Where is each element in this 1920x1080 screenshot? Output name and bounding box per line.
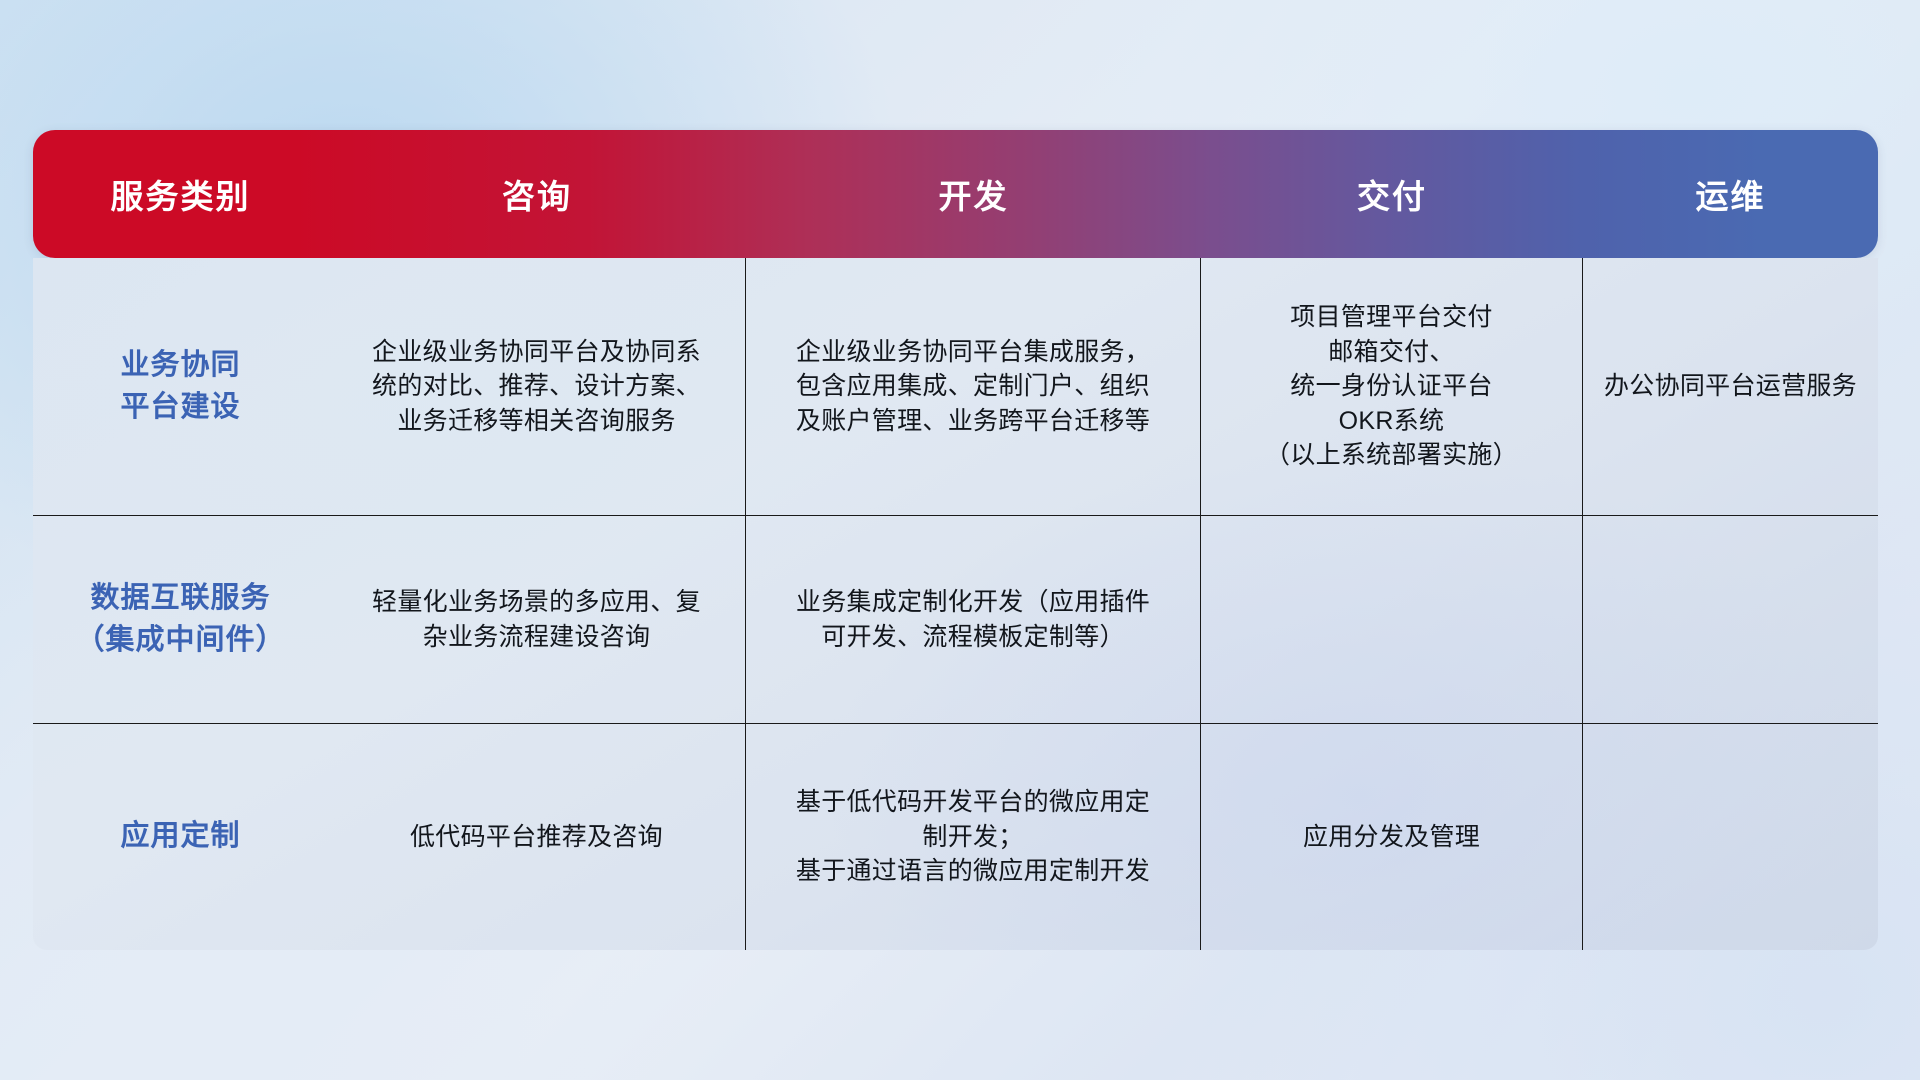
table-header-row: 服务类别 咨询 开发 交付 运维: [33, 130, 1878, 258]
cell-consulting: 企业级业务协同平台及协同系 统的对比、推荐、设计方案、 业务迁移等相关咨询服务: [328, 258, 746, 516]
row-category-label: 应用定制: [120, 816, 240, 857]
service-matrix-table: 服务类别 咨询 开发 交付 运维 业务协同 平台建设 企业级业务协同平台及协同系…: [33, 130, 1878, 950]
table-row: 业务协同 平台建设 企业级业务协同平台及协同系 统的对比、推荐、设计方案、 业务…: [33, 258, 1878, 516]
cell-text: 基于低代码开发平台的微应用定 制开发； 基于通过语言的微应用定制开发: [796, 785, 1150, 889]
cell-development: 企业级业务协同平台集成服务， 包含应用集成、定制门户、组织 及账户管理、业务跨平…: [746, 258, 1201, 516]
cell-text: 轻量化业务场景的多应用、复 杂业务流程建设咨询: [372, 585, 701, 654]
cell-consulting: 低代码平台推荐及咨询: [328, 724, 746, 950]
cell-development: 基于低代码开发平台的微应用定 制开发； 基于通过语言的微应用定制开发: [746, 724, 1201, 950]
table-header-cell-operations: 运维: [1583, 170, 1878, 218]
cell-text: 低代码平台推荐及咨询: [410, 820, 663, 855]
cell-text: 业务集成定制化开发（应用插件 可开发、流程模板定制等）: [796, 585, 1150, 654]
cell-operations: 办公协同平台运营服务: [1583, 258, 1878, 516]
cell-text: 企业级业务协同平台及协同系 统的对比、推荐、设计方案、 业务迁移等相关咨询服务: [372, 335, 701, 439]
row-category-cell: 应用定制: [33, 724, 328, 950]
cell-delivery: 应用分发及管理: [1201, 724, 1583, 950]
row-category-label: 数据互联服务 （集成中间件）: [75, 578, 285, 660]
table-row: 数据互联服务 （集成中间件） 轻量化业务场景的多应用、复 杂业务流程建设咨询 业…: [33, 516, 1878, 724]
cell-delivery: [1201, 516, 1583, 724]
table-header-cell-delivery: 交付: [1201, 170, 1583, 218]
cell-operations: [1583, 724, 1878, 950]
table-body: 业务协同 平台建设 企业级业务协同平台及协同系 统的对比、推荐、设计方案、 业务…: [33, 258, 1878, 950]
cell-text: 应用分发及管理: [1303, 820, 1480, 855]
cell-operations: [1583, 516, 1878, 724]
cell-consulting: 轻量化业务场景的多应用、复 杂业务流程建设咨询: [328, 516, 746, 724]
cell-text: 办公协同平台运营服务: [1604, 369, 1857, 404]
table-header-cell-consulting: 咨询: [328, 170, 746, 218]
table-row: 应用定制 低代码平台推荐及咨询 基于低代码开发平台的微应用定 制开发； 基于通过…: [33, 724, 1878, 950]
cell-development: 业务集成定制化开发（应用插件 可开发、流程模板定制等）: [746, 516, 1201, 724]
cell-text: 项目管理平台交付 邮箱交付、 统一身份认证平台 OKR系统 （以上系统部署实施）: [1265, 300, 1518, 473]
row-category-cell: 数据互联服务 （集成中间件）: [33, 516, 328, 724]
table-header-cell-category: 服务类别: [33, 170, 328, 218]
row-category-cell: 业务协同 平台建设: [33, 258, 328, 516]
cell-text: 企业级业务协同平台集成服务， 包含应用集成、定制门户、组织 及账户管理、业务跨平…: [796, 335, 1150, 439]
row-category-label: 业务协同 平台建设: [120, 345, 240, 427]
table-header-cell-development: 开发: [746, 170, 1201, 218]
cell-delivery: 项目管理平台交付 邮箱交付、 统一身份认证平台 OKR系统 （以上系统部署实施）: [1201, 258, 1583, 516]
